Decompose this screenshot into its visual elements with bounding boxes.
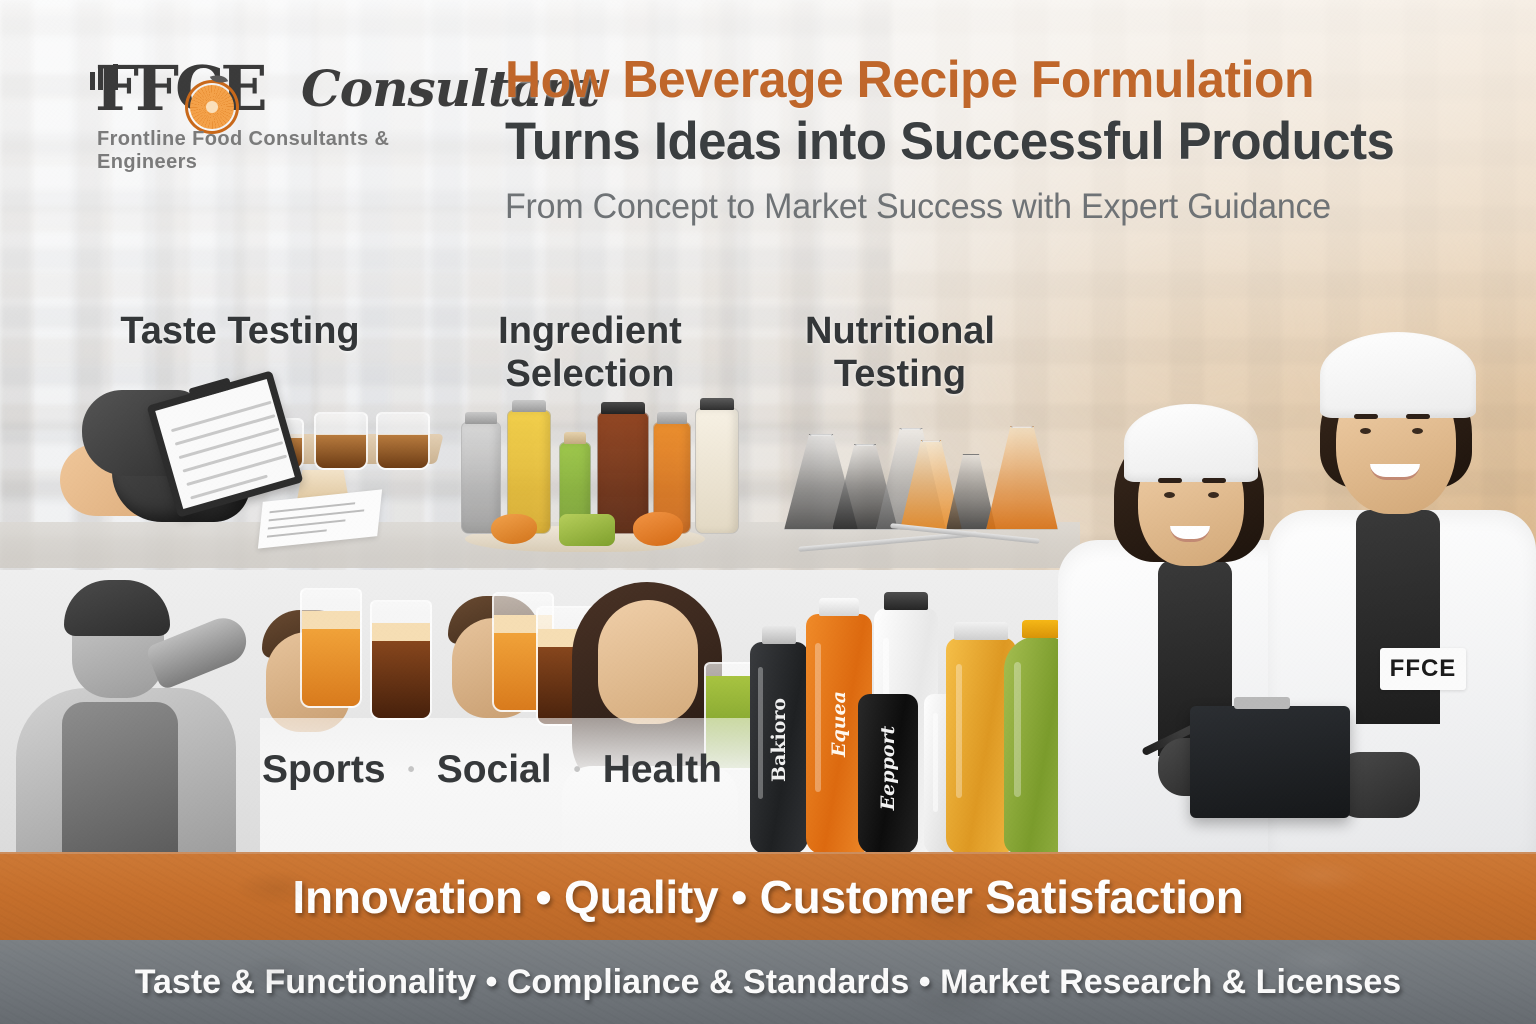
clipboard-clip-icon bbox=[188, 377, 232, 400]
product-label-text: Eepport bbox=[877, 725, 899, 810]
male-scientist-eye bbox=[1412, 428, 1423, 434]
female-scientist-eye bbox=[1164, 492, 1175, 498]
orange-slice-icon bbox=[185, 80, 239, 134]
lifestyle-separator-dot: • bbox=[574, 759, 581, 782]
food-scientists-group: FFCE bbox=[1062, 330, 1536, 852]
headline-block: How Beverage Recipe Formulation Turns Id… bbox=[505, 52, 1435, 228]
flask-amber-large bbox=[986, 426, 1058, 530]
male-scientist-brow bbox=[1354, 414, 1378, 419]
product-label-text: Bakioro bbox=[768, 697, 790, 781]
tasting-cup bbox=[376, 412, 430, 470]
lifestyle-label-health: Health bbox=[603, 748, 722, 792]
services-banner-text: Taste & Functionality • Compliance & Sta… bbox=[135, 963, 1401, 1002]
male-scientist-hairnet bbox=[1320, 332, 1476, 418]
health-person-face bbox=[598, 600, 698, 724]
process-imagery-strip bbox=[0, 368, 1080, 568]
male-scientist-shirt bbox=[1356, 510, 1440, 724]
ingredient-selection-scene bbox=[455, 390, 715, 560]
headline-line-1: How Beverage Recipe Formulation bbox=[505, 52, 1398, 108]
female-scientist-brow bbox=[1202, 478, 1226, 483]
athlete-tank-top bbox=[62, 702, 178, 852]
process-label-ingredient-line1: Ingredient bbox=[480, 310, 700, 353]
values-banner-text: Innovation • Quality • Customer Satisfac… bbox=[292, 870, 1243, 924]
tasting-cup bbox=[314, 412, 368, 470]
lifestyle-category-labels: Sports • Social • Health bbox=[262, 748, 722, 792]
inspection-clipboard bbox=[1190, 706, 1350, 818]
male-scientist-eye bbox=[1360, 428, 1371, 434]
product-bottle-dark: Bakioro bbox=[750, 642, 808, 854]
process-label-taste-line1: Taste Testing bbox=[120, 310, 360, 353]
product-bottle-lineup: Bakioro Equea Eepport bbox=[748, 586, 1098, 854]
values-banner: Innovation • Quality • Customer Satisfac… bbox=[0, 852, 1536, 940]
lab-coat-badge: FFCE bbox=[1380, 648, 1466, 690]
male-scientist-brow bbox=[1406, 414, 1430, 419]
taste-testing-scene bbox=[60, 378, 440, 558]
beverage-glass-amber bbox=[300, 588, 362, 708]
beverage-glass-cola bbox=[370, 600, 432, 720]
headline-subtitle: From Concept to Market Success with Expe… bbox=[505, 186, 1407, 228]
brand-logo[interactable]: FFCE Consultant Frontline Food Consultan… bbox=[85, 58, 485, 156]
female-scientist-eye bbox=[1208, 492, 1219, 498]
beaker-dark bbox=[946, 454, 996, 530]
athlete-hair bbox=[64, 580, 170, 636]
headline-line-2: Turns Ideas into Successful Products bbox=[505, 112, 1398, 171]
services-banner: Taste & Functionality • Compliance & Sta… bbox=[0, 940, 1536, 1024]
ingredient-jar-gray bbox=[461, 422, 501, 534]
process-label-nutritional-line1: Nutritional bbox=[790, 310, 1010, 353]
logo-tagline: Frontline Food Consultants & Engineers bbox=[97, 128, 485, 174]
female-scientist-hairnet bbox=[1124, 404, 1258, 482]
lifestyle-label-sports: Sports bbox=[262, 748, 386, 792]
herb-block bbox=[559, 514, 615, 546]
infographic-poster: FFCE Consultant Frontline Food Consultan… bbox=[0, 0, 1536, 1024]
product-can-black: Eepport bbox=[858, 694, 918, 854]
female-scientist-brow bbox=[1158, 478, 1182, 483]
lifestyle-separator-dot: • bbox=[408, 759, 415, 782]
lifestyle-label-social: Social bbox=[437, 748, 552, 792]
tasting-score-sheet bbox=[258, 489, 382, 548]
ingredient-jar-milk bbox=[695, 408, 739, 534]
product-label-text: Equea bbox=[828, 691, 850, 757]
nutritional-testing-scene bbox=[780, 398, 1060, 558]
process-label-taste-testing: Taste Testing bbox=[120, 310, 360, 353]
clipboard-clip-icon bbox=[1234, 697, 1290, 709]
